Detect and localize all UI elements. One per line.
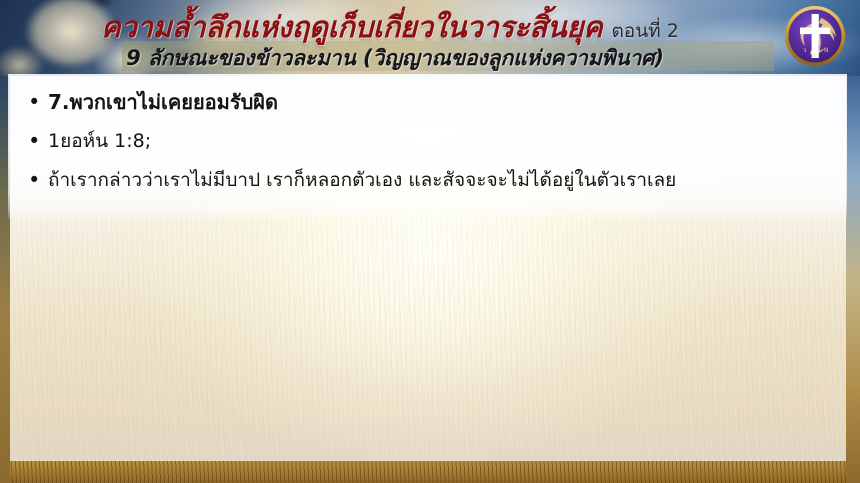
church-cross-dove-emblem-icon: ว ภ N — [783, 4, 847, 68]
bullet-text: ถ้าเรากล่าวว่าเราไม่มีบาป เราก็หลอกตัวเอ… — [48, 163, 676, 197]
slide-root: ความล้ำลึกแห่งฤดูเก็บเกี่ยวในวาระสิ้นยุค… — [0, 0, 860, 483]
logo-letter-center: ภ — [812, 52, 816, 59]
bullet-point-icon: • — [20, 163, 48, 197]
subtitle-row: 9 ลักษณะของข้าวละมาน (วิญญาณของลูกแห่งคว… — [0, 42, 790, 75]
content-panel: •7.พวกเขาไม่เคยยอมรับผิด•1ยอห์น 1:8;•ถ้า… — [8, 74, 847, 219]
sermon-subtitle: 9 ลักษณะของข้าวละมาน (วิญญาณของลูกแห่งคว… — [126, 42, 664, 75]
list-item: •1ยอห์น 1:8; — [20, 124, 837, 158]
bullet-text: 1ยอห์น 1:8; — [48, 124, 151, 158]
logo-letter-right: N — [824, 47, 829, 54]
bullet-text: 7.พวกเขาไม่เคยยอมรับผิด — [48, 85, 278, 119]
bullet-list: •7.พวกเขาไม่เคยยอมรับผิด•1ยอห์น 1:8;•ถ้า… — [20, 85, 837, 197]
bullet-point-icon: • — [20, 85, 48, 119]
header-banner: ความล้ำลึกแห่งฤดูเก็บเกี่ยวในวาระสิ้นยุค… — [0, 0, 860, 76]
list-item: •7.พวกเขาไม่เคยยอมรับผิด — [20, 85, 837, 119]
list-item: •ถ้าเรากล่าวว่าเราไม่มีบาป เราก็หลอกตัวเ… — [20, 163, 837, 197]
logo-letter-left: ว — [803, 47, 806, 54]
background-bottom-wheat-strip — [0, 461, 860, 483]
church-logo: ว ภ N — [783, 4, 847, 68]
bullet-point-icon: • — [20, 124, 48, 158]
